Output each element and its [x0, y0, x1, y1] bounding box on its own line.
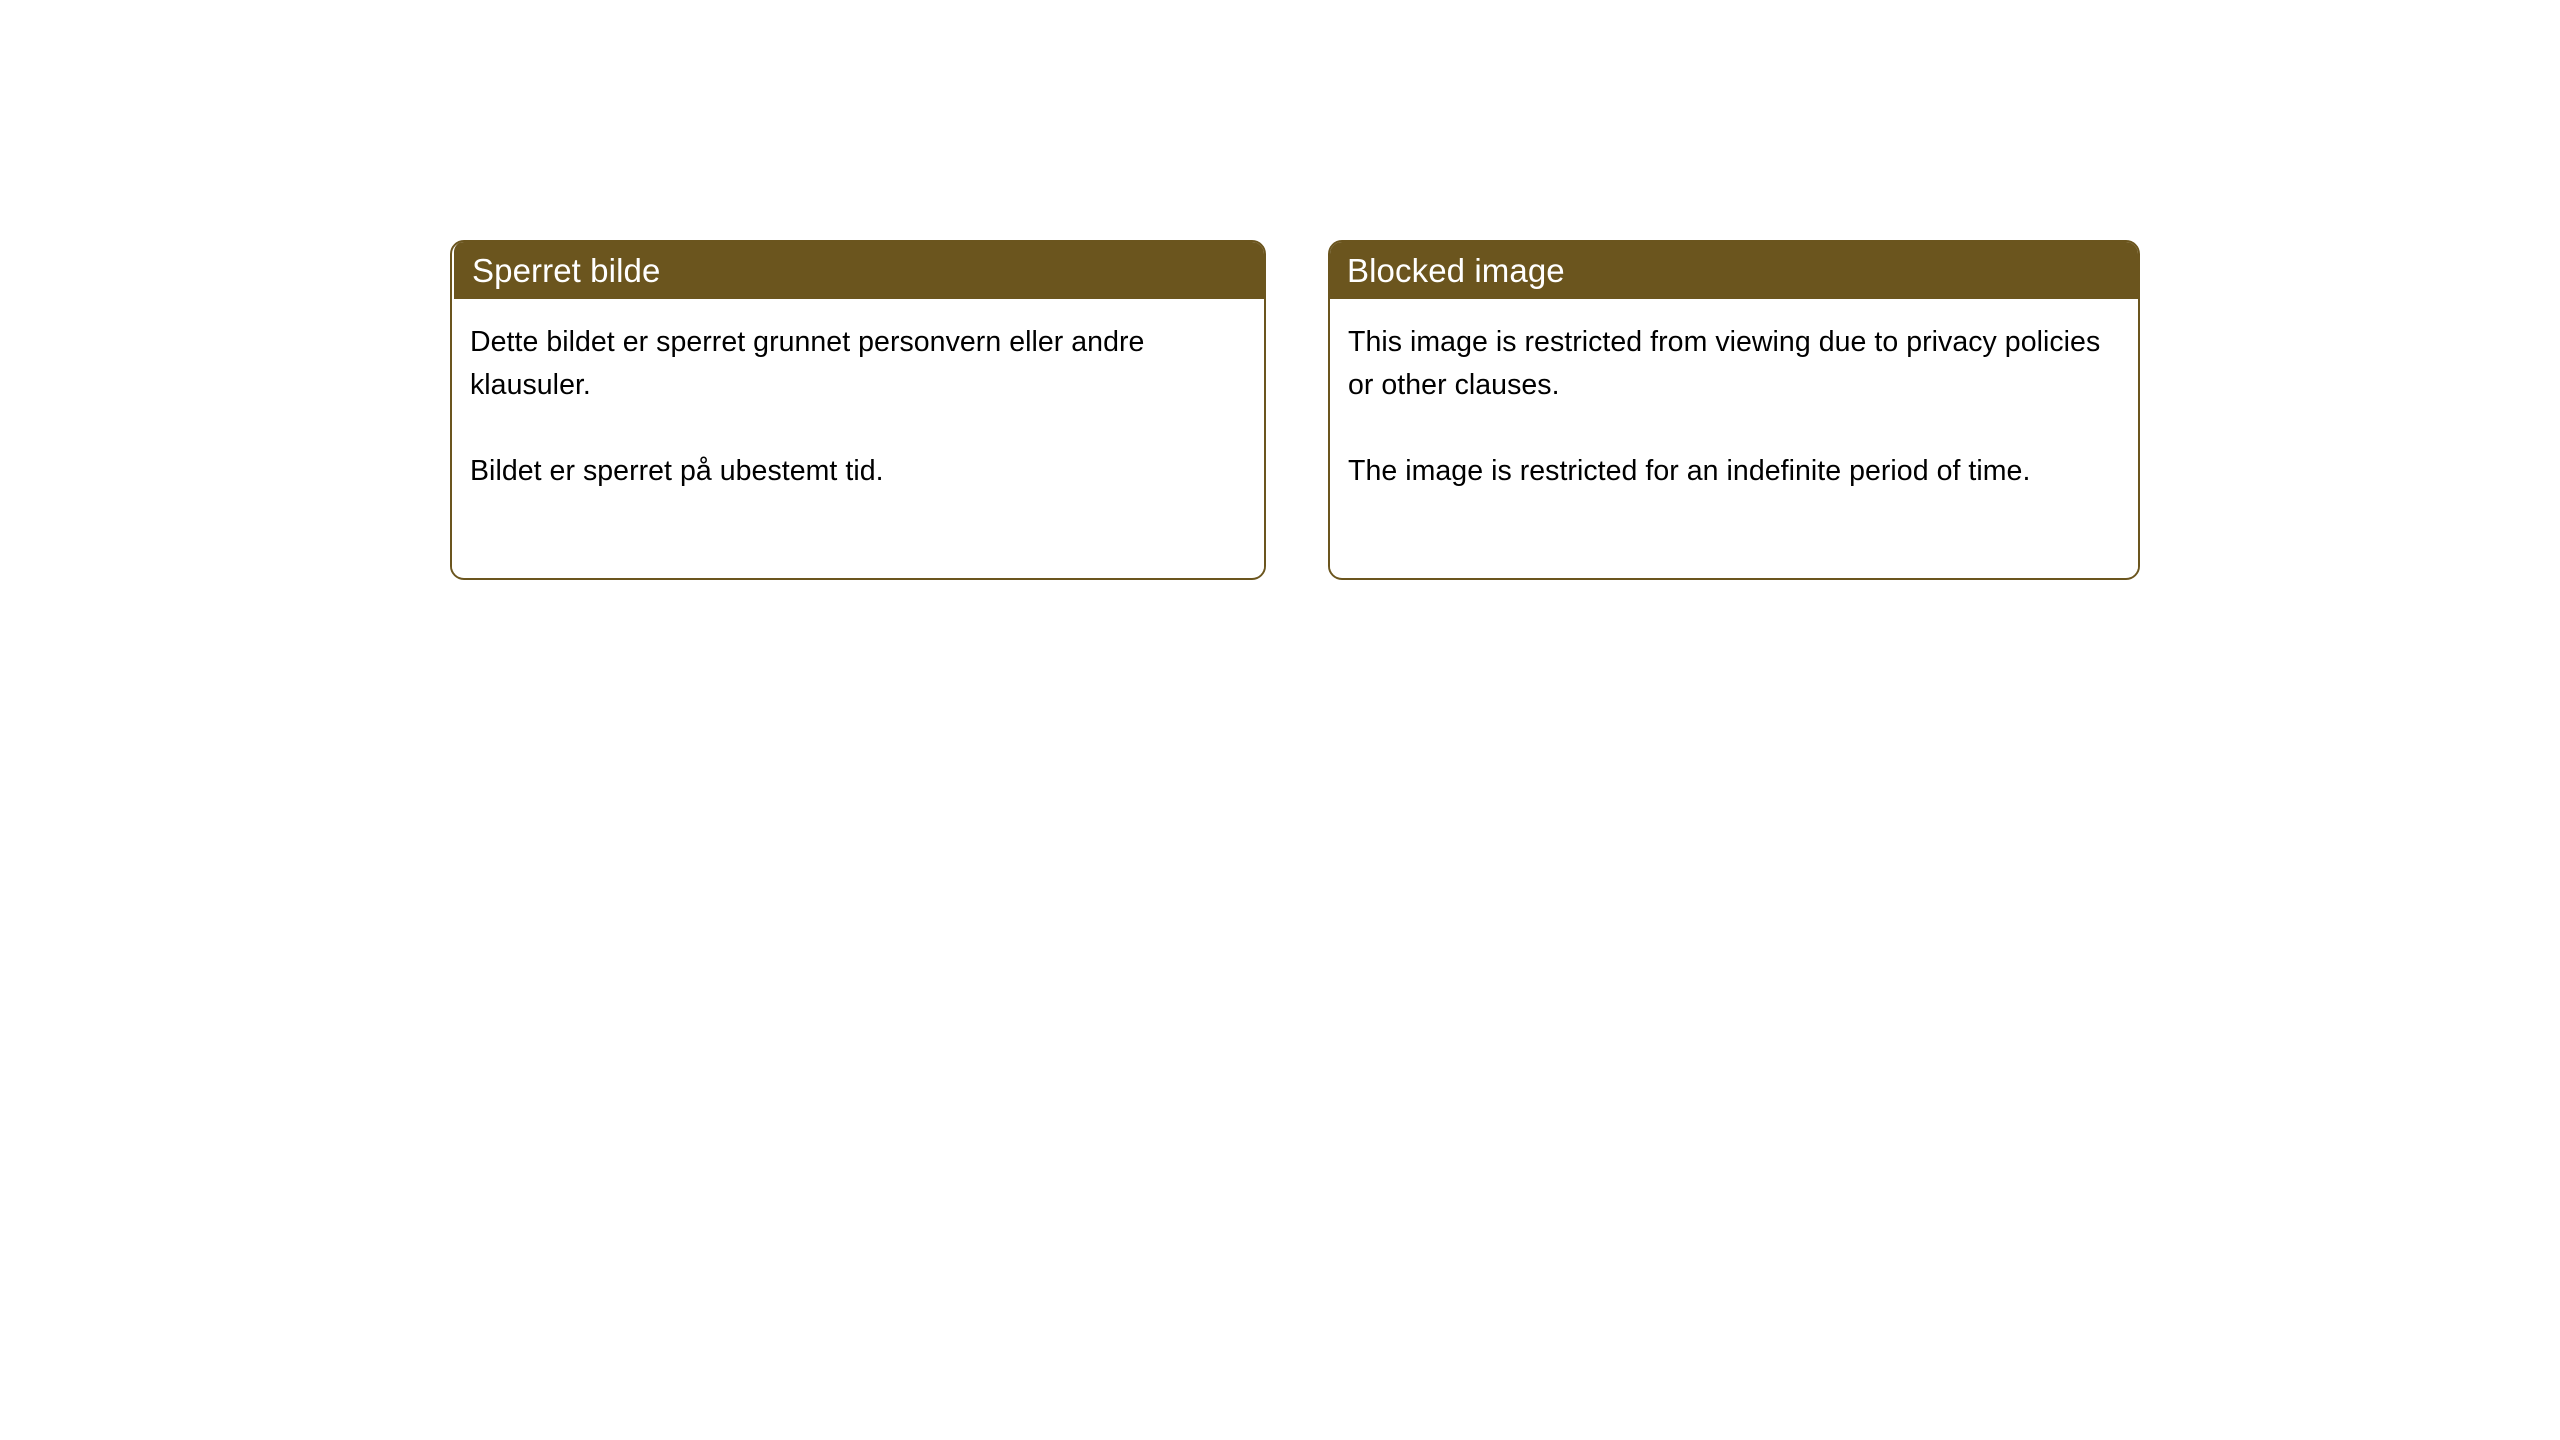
notice-paragraph-duration-norwegian: Bildet er sperret på ubestemt tid.	[470, 450, 1230, 493]
notice-paragraph-duration-english: The image is restricted for an indefinit…	[1348, 450, 2108, 493]
notice-paragraph-reason-english: This image is restricted from viewing du…	[1348, 321, 2108, 407]
notice-title-norwegian: Sperret bilde	[454, 254, 660, 287]
notice-title-english: Blocked image	[1329, 254, 1565, 287]
notice-body-english: This image is restricted from viewing du…	[1330, 299, 2138, 577]
blocked-image-notice-english: Blocked image This image is restricted f…	[1328, 240, 2140, 580]
notice-header-english: Blocked image	[1329, 241, 2139, 299]
blocked-image-notice-norwegian: Sperret bilde Dette bildet er sperret gr…	[450, 240, 1266, 580]
notice-header-norwegian: Sperret bilde	[454, 241, 1265, 299]
page-canvas: Sperret bilde Dette bildet er sperret gr…	[0, 0, 2560, 1440]
notice-paragraph-reason-norwegian: Dette bildet er sperret grunnet personve…	[470, 321, 1230, 407]
notice-body-norwegian: Dette bildet er sperret grunnet personve…	[452, 299, 1264, 577]
